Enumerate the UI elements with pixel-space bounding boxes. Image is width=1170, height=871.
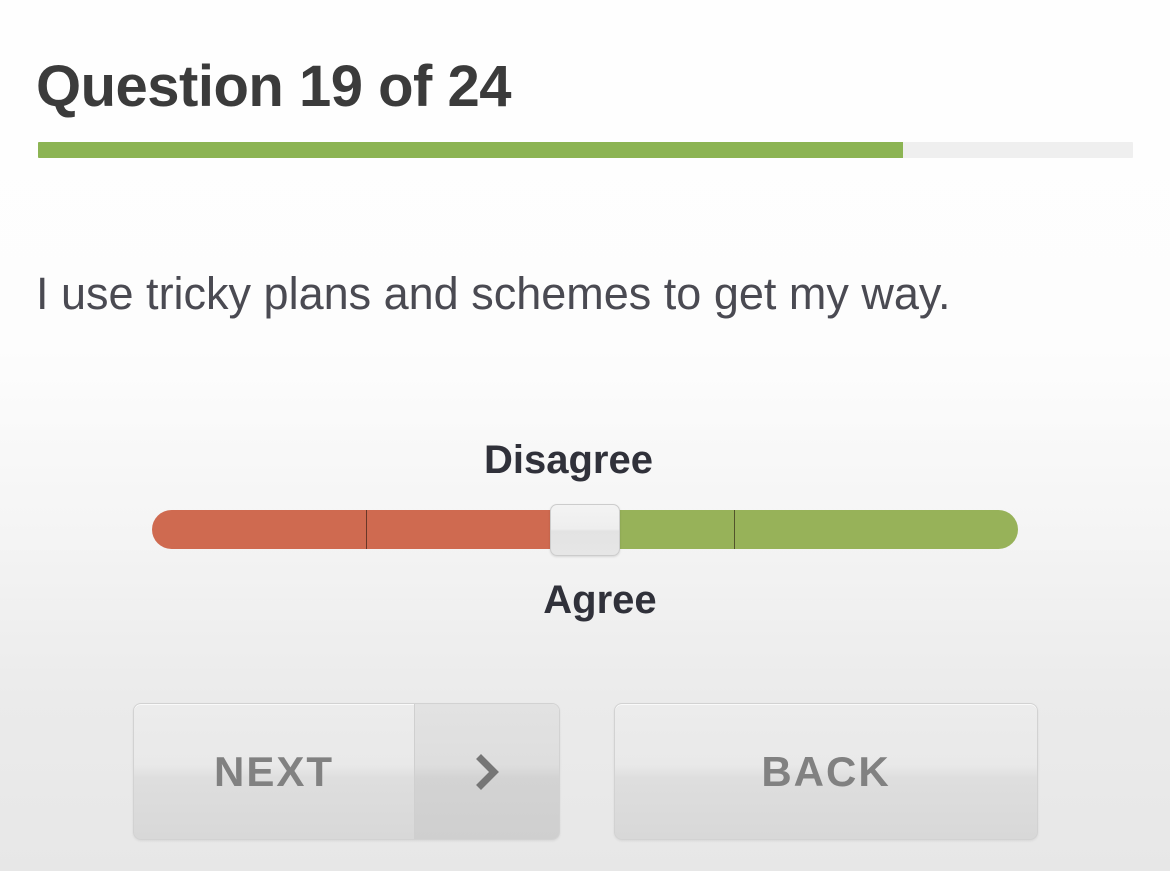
next-button-label: NEXT (214, 748, 334, 796)
slider-segment-agree-strong[interactable] (735, 510, 1018, 549)
next-button[interactable]: NEXT (133, 703, 560, 840)
slider-label-agree: Agree (0, 578, 1170, 623)
back-button-label: BACK (761, 748, 890, 796)
next-button-arrow[interactable] (414, 704, 559, 839)
question-text: I use tricky plans and schemes to get my… (36, 263, 1046, 325)
quiz-page: Question 19 of 24 I use tricky plans and… (0, 0, 1170, 871)
back-button[interactable]: BACK (614, 703, 1038, 840)
progress-bar-fill (38, 142, 903, 158)
slider-segment-disagree-mild[interactable] (367, 510, 555, 549)
progress-bar (38, 142, 1133, 158)
slider-label-disagree: Disagree (0, 438, 1137, 483)
slider-handle[interactable] (550, 504, 620, 556)
chevron-right-icon (464, 749, 510, 795)
page-title: Question 19 of 24 (36, 51, 511, 124)
slider-segment-disagree-strong[interactable] (152, 510, 367, 549)
button-row: NEXT BACK (0, 703, 1170, 843)
next-button-main[interactable]: NEXT (134, 704, 414, 839)
